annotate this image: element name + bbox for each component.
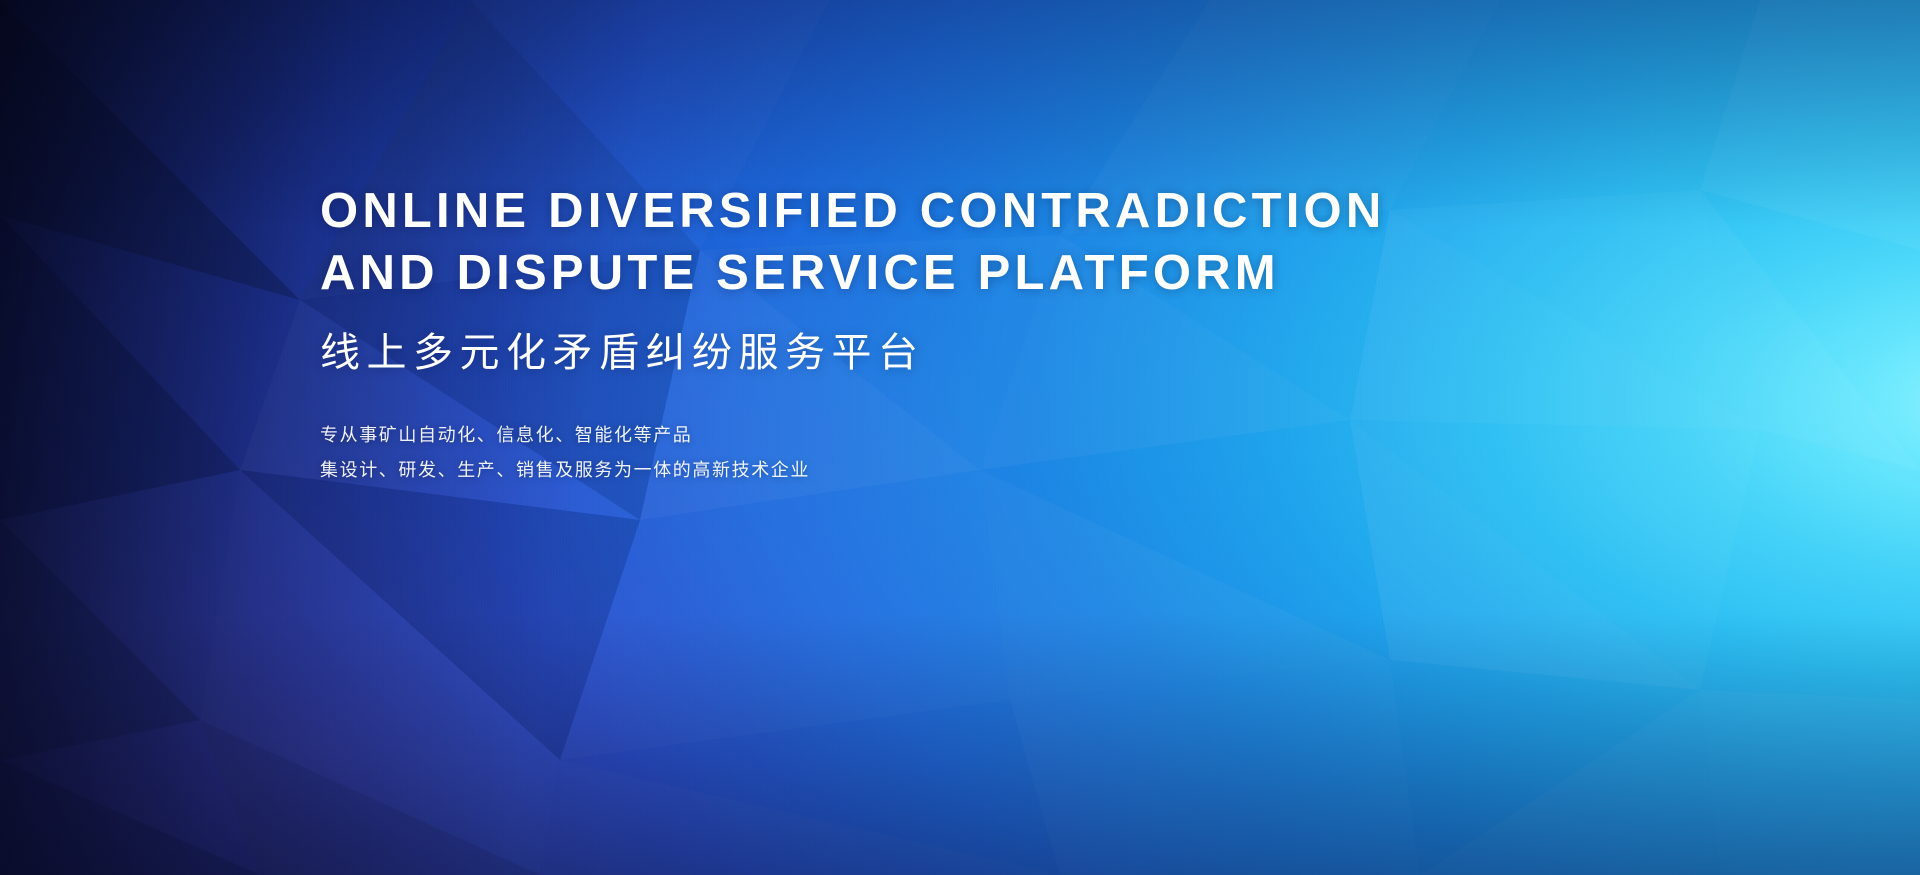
banner-title-english: ONLINE DIVERSIFIED CONTRADICTION AND DIS… [320,180,1720,304]
banner-title-chinese: 线上多元化矛盾纠纷服务平台 [320,326,1720,380]
hero-banner: ONLINE DIVERSIFIED CONTRADICTION AND DIS… [0,0,1920,875]
banner-subtitle: 专从事矿山自动化、信息化、智能化等产品 集设计、研发、生产、销售及服务为一体的高… [320,418,1720,488]
banner-content: ONLINE DIVERSIFIED CONTRADICTION AND DIS… [320,180,1720,488]
banner-subtitle-line-2: 集设计、研发、生产、销售及服务为一体的高新技术企业 [320,453,1720,488]
banner-subtitle-line-1: 专从事矿山自动化、信息化、智能化等产品 [320,418,1720,453]
